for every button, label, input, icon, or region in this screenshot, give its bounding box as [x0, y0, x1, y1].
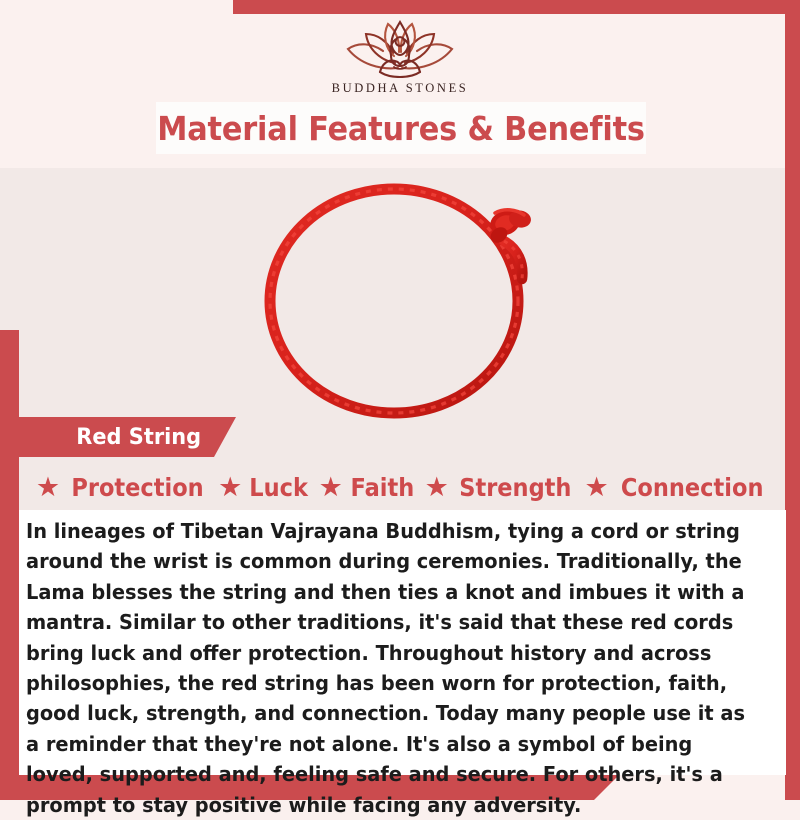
benefit-label: Protection — [71, 473, 203, 502]
benefit-item: ★ Luck — [211, 473, 311, 502]
product-name-ribbon: Red String — [19, 417, 236, 457]
star-icon: ★ — [425, 474, 449, 501]
star-icon: ★ — [585, 474, 609, 501]
benefit-label: Strength — [459, 473, 571, 502]
benefit-item: ★ Faith — [312, 473, 418, 502]
brand-name: BUDDHA STONES — [332, 81, 469, 96]
title-banner: Material Features & Benefits — [156, 102, 646, 154]
frame-top-bar — [233, 0, 800, 14]
star-icon: ★ — [218, 474, 242, 501]
benefit-item: ★ Strength — [418, 473, 578, 502]
star-icon: ★ — [36, 474, 60, 501]
page-title: Material Features & Benefits — [157, 109, 645, 148]
benefit-item: ★ Protection — [29, 473, 211, 502]
brand-logo: BUDDHA STONES — [0, 16, 800, 96]
benefit-label: Luck — [250, 473, 309, 502]
star-icon: ★ — [319, 474, 343, 501]
benefit-label: Connection — [621, 473, 764, 502]
description-card: In lineages of Tibetan Vajrayana Buddhis… — [19, 510, 786, 775]
infographic-page: BUDDHA STONES Material Features & Benefi… — [0, 0, 800, 800]
benefit-label: Faith — [350, 473, 414, 502]
frame-left-bar — [0, 330, 19, 800]
benefits-row: ★ Protection ★ Luck ★ Faith ★ Strength ★… — [0, 466, 800, 508]
description-text: In lineages of Tibetan Vajrayana Buddhis… — [26, 516, 746, 820]
frame-right-bar — [785, 0, 800, 800]
product-image-red-string-bracelet — [252, 175, 552, 425]
benefit-item: ★ Connection — [578, 473, 772, 502]
product-name-label: Red String — [76, 425, 201, 450]
lotus-meditation-icon — [338, 16, 462, 78]
